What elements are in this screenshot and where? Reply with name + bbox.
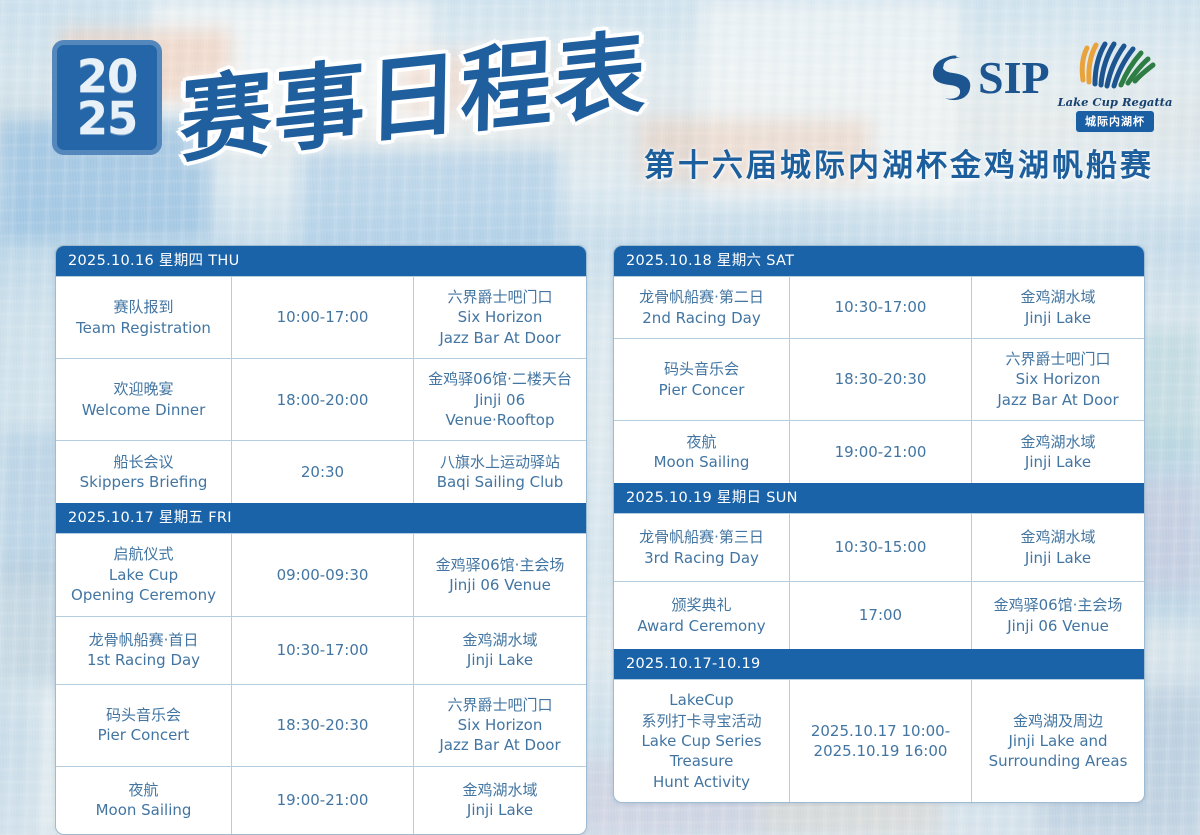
cell-event: 夜航Moon Sailing xyxy=(614,421,789,483)
table-row: 码头音乐会Pier Concert18:30-20:30六界爵士吧门口Six H… xyxy=(56,684,586,766)
event-name-cn: 码头音乐会 xyxy=(106,705,181,725)
cell-event: 欢迎晚宴Welcome Dinner xyxy=(56,359,231,440)
schedule-table-right: 2025.10.18 星期六 SAT龙骨帆船赛·第二日2nd Racing Da… xyxy=(613,245,1145,803)
cell-venue: 金鸡湖水域Jinji Lake xyxy=(971,514,1144,581)
table-row: 启航仪式Lake Cup Opening Ceremony09:00-09:30… xyxy=(56,533,586,615)
venue-name-en: Jinji 06 Venue·Rooftop xyxy=(420,390,580,431)
table-row: LakeCup 系列打卡寻宝活动Lake Cup Series Treasure… xyxy=(614,679,1144,802)
table-row: 欢迎晚宴Welcome Dinner18:00-20:00金鸡驿06馆·二楼天台… xyxy=(56,358,586,440)
table-row: 龙骨帆船赛·第三日3rd Racing Day10:30-15:00金鸡湖水域J… xyxy=(614,513,1144,581)
cell-time: 18:30-20:30 xyxy=(789,339,971,420)
table-row: 夜航Moon Sailing19:00-21:00金鸡湖水域Jinji Lake xyxy=(614,420,1144,483)
sip-swirl-icon xyxy=(928,52,976,104)
cell-venue: 金鸡湖及周边Jinji Lake and Surrounding Areas xyxy=(971,680,1144,802)
cell-time: 2025.10.17 10:00- 2025.10.19 16:00 xyxy=(789,680,971,802)
venue-name-en: Baqi Sailing Club xyxy=(437,472,564,492)
cell-time: 18:00-20:00 xyxy=(231,359,413,440)
event-name-en: Moon Sailing xyxy=(96,800,192,820)
cell-event: 龙骨帆船赛·首日1st Racing Day xyxy=(56,617,231,684)
cell-time: 20:30 xyxy=(231,441,413,503)
venue-name-cn: 金鸡驿06馆·二楼天台 xyxy=(428,369,572,389)
event-name-en: Team Registration xyxy=(76,318,211,338)
cell-event: 码头音乐会Pier Concer xyxy=(614,339,789,420)
table-row: 船长会议Skippers Briefing20:30八旗水上运动驿站Baqi S… xyxy=(56,440,586,503)
sip-logo: SIP xyxy=(928,52,1050,104)
year-stamp-bottom: 25 xyxy=(77,98,138,139)
venue-name-en: Jinji Lake xyxy=(1025,308,1091,328)
event-name-en: 3rd Racing Day xyxy=(644,548,759,568)
event-name-cn: 码头音乐会 xyxy=(664,359,739,379)
cell-venue: 金鸡湖水域Jinji Lake xyxy=(413,767,586,834)
cell-time: 19:00-21:00 xyxy=(789,421,971,483)
venue-name-en: Jinji Lake xyxy=(1025,452,1091,472)
table-row: 夜航Moon Sailing19:00-21:00金鸡湖水域Jinji Lake xyxy=(56,766,586,834)
cell-time: 10:00-17:00 xyxy=(231,277,413,358)
event-name-en: Pier Concer xyxy=(659,380,745,400)
cell-event: LakeCup 系列打卡寻宝活动Lake Cup Series Treasure… xyxy=(614,680,789,802)
event-name-en: Welcome Dinner xyxy=(82,400,206,420)
venue-name-cn: 金鸡湖水域 xyxy=(462,630,537,650)
cell-time: 19:00-21:00 xyxy=(231,767,413,834)
cell-venue: 六界爵士吧门口Six Horizon Jazz Bar At Door xyxy=(413,685,586,766)
venue-name-cn: 六界爵士吧门口 xyxy=(447,695,552,715)
event-name-cn: 船长会议 xyxy=(113,452,173,472)
cell-time: 17:00 xyxy=(789,582,971,649)
cell-event: 龙骨帆船赛·第二日2nd Racing Day xyxy=(614,277,789,338)
venue-name-cn: 金鸡驿06馆·主会场 xyxy=(436,555,565,575)
event-name-cn: 欢迎晚宴 xyxy=(113,379,173,399)
venue-name-cn: 金鸡湖水域 xyxy=(1020,287,1095,307)
cell-event: 龙骨帆船赛·第三日3rd Racing Day xyxy=(614,514,789,581)
cell-time: 18:30-20:30 xyxy=(231,685,413,766)
cell-event: 颁奖典礼Award Ceremony xyxy=(614,582,789,649)
cell-venue: 金鸡驿06馆·二楼天台Jinji 06 Venue·Rooftop xyxy=(413,359,586,440)
page-title: 赛事日程表 xyxy=(179,1,620,218)
poster-header: 20 25 赛事日程表 第十六届城际内湖杯金鸡湖帆船赛 SIP xyxy=(0,0,1200,240)
year-stamp-2025: 20 25 xyxy=(52,40,162,155)
sip-wordmark: SIP xyxy=(978,55,1050,101)
event-name-en: Lake Cup Opening Ceremony xyxy=(71,565,216,606)
venue-name-en: Six Horizon Jazz Bar At Door xyxy=(439,307,560,348)
venue-name-cn: 六界爵士吧门口 xyxy=(447,287,552,307)
venue-name-en: Six Horizon Jazz Bar At Door xyxy=(439,715,560,756)
event-name-en: 2nd Racing Day xyxy=(642,308,760,328)
event-name-en: Skippers Briefing xyxy=(80,472,208,492)
venue-name-cn: 六界爵士吧门口 xyxy=(1005,349,1110,369)
day-header: 2025.10.17-10.19 xyxy=(614,649,1144,679)
cell-event: 船长会议Skippers Briefing xyxy=(56,441,231,503)
sail-fan-icon xyxy=(1069,32,1161,94)
table-row: 码头音乐会Pier Concer18:30-20:30六界爵士吧门口Six Ho… xyxy=(614,338,1144,420)
table-row: 龙骨帆船赛·第二日2nd Racing Day10:30-17:00金鸡湖水域J… xyxy=(614,276,1144,338)
venue-name-en: Jinji Lake xyxy=(467,800,533,820)
cell-time: 10:30-15:00 xyxy=(789,514,971,581)
cell-time: 10:30-17:00 xyxy=(789,277,971,338)
cell-venue: 金鸡湖水域Jinji Lake xyxy=(413,617,586,684)
venue-name-cn: 金鸡驿06馆·主会场 xyxy=(994,595,1123,615)
venue-name-cn: 金鸡湖水域 xyxy=(462,780,537,800)
cell-venue: 金鸡湖水域Jinji Lake xyxy=(971,277,1144,338)
regatta-banner-text: 城际内湖杯 xyxy=(1076,111,1154,132)
event-name-en: Award Ceremony xyxy=(637,616,765,636)
day-header: 2025.10.19 星期日 SUN xyxy=(614,483,1144,513)
table-row: 龙骨帆船赛·首日1st Racing Day10:30-17:00金鸡湖水域Ji… xyxy=(56,616,586,684)
cell-venue: 金鸡湖水域Jinji Lake xyxy=(971,421,1144,483)
day-header: 2025.10.18 星期六 SAT xyxy=(614,246,1144,276)
venue-name-en: Jinji Lake xyxy=(467,650,533,670)
venue-name-en: Jinji 06 Venue xyxy=(1007,616,1109,636)
event-name-cn: LakeCup 系列打卡寻宝活动 xyxy=(641,690,761,731)
lake-cup-regatta-logo: Lake Cup Regatta 城际内湖杯 xyxy=(1066,32,1164,140)
event-name-en: Moon Sailing xyxy=(654,452,750,472)
table-row: 颁奖典礼Award Ceremony17:00金鸡驿06馆·主会场Jinji 0… xyxy=(614,581,1144,649)
cell-venue: 六界爵士吧门口Six Horizon Jazz Bar At Door xyxy=(413,277,586,358)
cell-event: 赛队报到Team Registration xyxy=(56,277,231,358)
event-name-cn: 夜航 xyxy=(128,780,158,800)
venue-name-cn: 金鸡湖水域 xyxy=(1020,432,1095,452)
event-name-en: 1st Racing Day xyxy=(87,650,200,670)
cell-time: 09:00-09:30 xyxy=(231,534,413,615)
event-name-cn: 赛队报到 xyxy=(113,297,173,317)
venue-name-cn: 金鸡湖水域 xyxy=(1020,527,1095,547)
event-name-cn: 启航仪式 xyxy=(113,544,173,564)
cell-event: 夜航Moon Sailing xyxy=(56,767,231,834)
regatta-script-text: Lake Cup Regatta xyxy=(1058,95,1173,109)
event-name-en: Pier Concert xyxy=(98,725,190,745)
venue-name-en: Jinji Lake and Surrounding Areas xyxy=(989,731,1128,772)
event-name-cn: 龙骨帆船赛·第三日 xyxy=(639,527,764,547)
venue-name-cn: 八旗水上运动驿站 xyxy=(440,452,560,472)
venue-name-en: Jinji Lake xyxy=(1025,548,1091,568)
page-subtitle: 第十六届城际内湖杯金鸡湖帆船赛 xyxy=(644,140,1154,185)
event-name-en: Lake Cup Series Treasure Hunt Activity xyxy=(620,731,783,792)
schedule-poster: 20 25 赛事日程表 第十六届城际内湖杯金鸡湖帆船赛 SIP xyxy=(0,0,1200,835)
day-header: 2025.10.16 星期四 THU xyxy=(56,246,586,276)
event-name-cn: 颁奖典礼 xyxy=(671,595,731,615)
cell-venue: 八旗水上运动驿站Baqi Sailing Club xyxy=(413,441,586,503)
event-name-cn: 龙骨帆船赛·首日 xyxy=(89,630,199,650)
event-name-cn: 夜航 xyxy=(686,432,716,452)
table-row: 赛队报到Team Registration10:00-17:00六界爵士吧门口S… xyxy=(56,276,586,358)
cell-venue: 金鸡驿06馆·主会场Jinji 06 Venue xyxy=(971,582,1144,649)
event-name-cn: 龙骨帆船赛·第二日 xyxy=(639,287,764,307)
cell-time: 10:30-17:00 xyxy=(231,617,413,684)
venue-name-en: Jinji 06 Venue xyxy=(449,575,551,595)
cell-venue: 金鸡驿06馆·主会场Jinji 06 Venue xyxy=(413,534,586,615)
venue-name-cn: 金鸡湖及周边 xyxy=(1013,711,1103,731)
day-header: 2025.10.17 星期五 FRI xyxy=(56,503,586,533)
cell-venue: 六界爵士吧门口Six Horizon Jazz Bar At Door xyxy=(971,339,1144,420)
schedule-table-left: 2025.10.16 星期四 THU赛队报到Team Registration1… xyxy=(55,245,587,835)
cell-event: 启航仪式Lake Cup Opening Ceremony xyxy=(56,534,231,615)
venue-name-en: Six Horizon Jazz Bar At Door xyxy=(997,369,1118,410)
cell-event: 码头音乐会Pier Concert xyxy=(56,685,231,766)
